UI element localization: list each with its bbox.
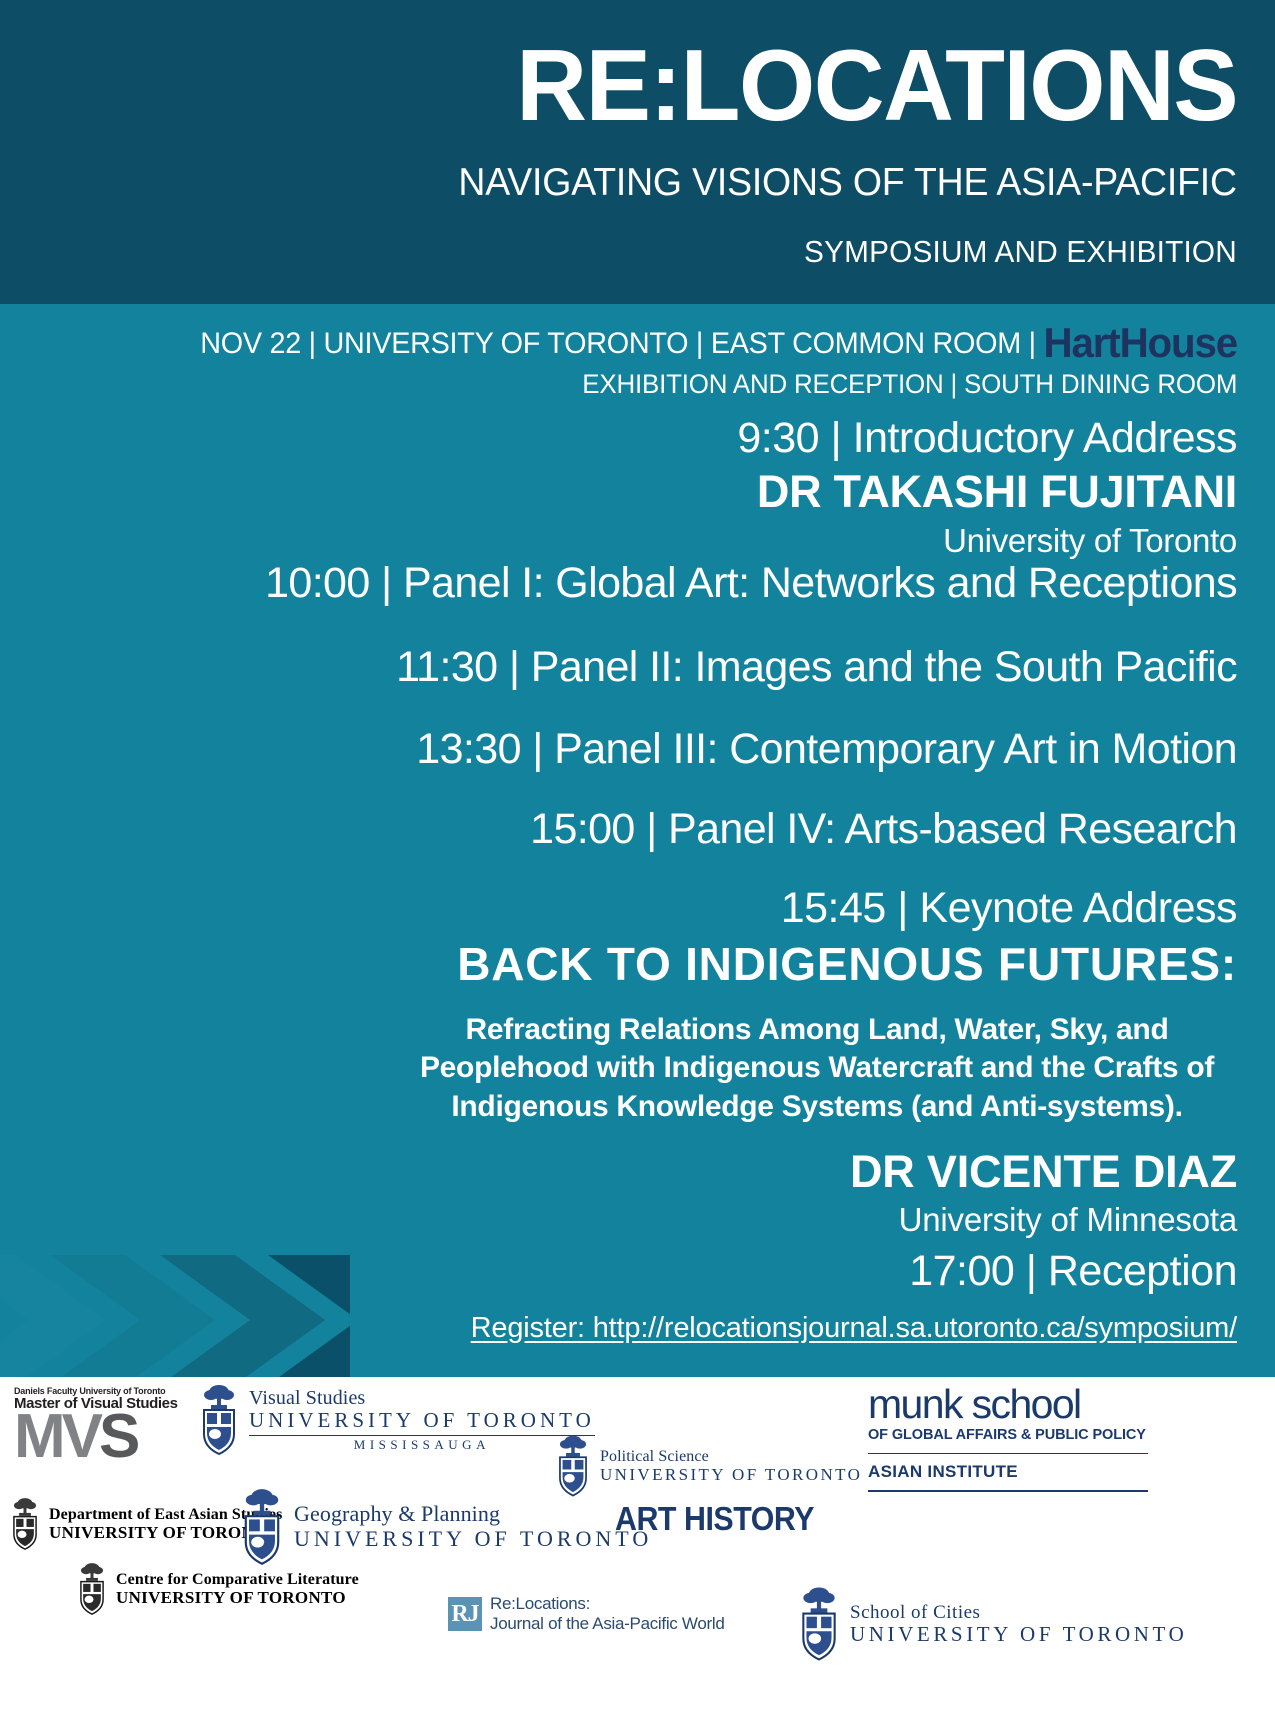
munk-asian-institute: ASIAN INSTITUTE <box>868 1462 1148 1482</box>
logo-geography-planning: Geography & Planning UNIVERSITY OF TORON… <box>237 1487 652 1567</box>
intro-address-time: 9:30 | Introductory Address <box>737 417 1237 460</box>
logo-visual-studies-utm: Visual Studies UNIVERSITY OF TORONTO MIS… <box>196 1383 595 1457</box>
keynote-description: Refracting Relations Among Land, Water, … <box>397 1011 1237 1126</box>
vsutm-university: UNIVERSITY OF TORONTO <box>249 1409 595 1433</box>
polsci-university: UNIVERSITY OF TORONTO <box>600 1465 862 1484</box>
logo-master-of-visual-studies: Daniels Faculty University of Toronto Ma… <box>14 1387 174 1464</box>
logo-comparative-literature: Centre for Comparative Literature UNIVER… <box>75 1560 359 1618</box>
logo-munk-school: munk school OF GLOBAL AFFAIRS & PUBLIC P… <box>868 1385 1148 1492</box>
panel-item-4: 15:00 | Panel IV: Arts-based Research <box>530 808 1237 851</box>
geog-university: UNIVERSITY OF TORONTO <box>294 1527 652 1552</box>
mvs-letter-s: S <box>99 1402 136 1471</box>
keynote-title: BACK TO INDIGENOUS FUTURES: <box>457 941 1237 987</box>
polsci-unit: Political Science <box>600 1448 862 1466</box>
uoft-crest-icon <box>237 1487 287 1567</box>
keynote-time: 15:45 | Keynote Address <box>781 887 1237 930</box>
logo-art-history: ART HISTORY <box>615 1500 831 1538</box>
vsutm-campus: MISSISSAUGA <box>249 1438 595 1453</box>
header-band: RE:LOCATIONS NAVIGATING VISIONS OF THE A… <box>0 0 1275 304</box>
logo-political-science: Political Science UNIVERSITY OF TORONTO <box>553 1433 862 1499</box>
rj-line2: Journal of the Asia-Pacific World <box>490 1614 725 1634</box>
register-link[interactable]: Register: http://relocationsjournal.sa.u… <box>471 1314 1237 1343</box>
exhibition-line: EXHIBITION AND RECEPTION | SOUTH DINING … <box>582 371 1237 398</box>
venue-text: NOV 22 | UNIVERSITY OF TORONTO | EAST CO… <box>200 327 1043 360</box>
logo-relocations-journal: RJ Re:Locations: Journal of the Asia-Pac… <box>448 1594 725 1634</box>
soc-unit: School of Cities <box>850 1602 1187 1623</box>
panel-item-3: 13:30 | Panel III: Contemporary Art in M… <box>416 728 1237 771</box>
uoft-crest-icon <box>795 1585 843 1663</box>
geog-unit: Geography & Planning <box>294 1502 652 1527</box>
page-tagline: SYMPOSIUM AND EXHIBITION <box>804 236 1237 267</box>
uoft-crest-icon <box>553 1433 593 1499</box>
page-subtitle: NAVIGATING VISIONS OF THE ASIA-PACIFIC <box>459 163 1237 202</box>
vsutm-unit: Visual Studies <box>249 1387 595 1409</box>
art-history-name: ART HISTORY <box>615 1500 814 1538</box>
munk-subtitle: OF GLOBAL AFFAIRS & PUBLIC POLICY <box>868 1427 1148 1443</box>
intro-speaker-name: DR TAKASHI FUJITANI <box>757 469 1237 514</box>
intro-speaker-affiliation: University of Toronto <box>943 524 1237 557</box>
ccl-university: UNIVERSITY OF TORONTO <box>116 1588 359 1607</box>
rj-text: Re:Locations: Journal of the Asia-Pacifi… <box>490 1594 725 1634</box>
uoft-crest-icon <box>8 1495 42 1553</box>
uoft-crest-icon <box>75 1560 109 1618</box>
mvs-letter-v: V <box>62 1402 99 1471</box>
harthouse-logo: HartHouse <box>1043 319 1237 366</box>
divider <box>868 1453 1148 1454</box>
keynote-speaker-affiliation: University of Minnesota <box>899 1203 1237 1236</box>
panel-item-2: 11:30 | Panel II: Images and the South P… <box>396 646 1237 689</box>
mvs-acronym: MVS <box>14 1411 174 1464</box>
divider <box>868 1490 1148 1491</box>
sponsor-logo-strip: Daniels Faculty University of Toronto Ma… <box>0 1377 1275 1725</box>
uoft-crest-icon <box>196 1383 242 1457</box>
venue-line: NOV 22 | UNIVERSITY OF TORONTO | EAST CO… <box>200 322 1237 364</box>
reception-time: 17:00 | Reception <box>909 1250 1237 1293</box>
soc-university: UNIVERSITY OF TORONTO <box>850 1623 1187 1647</box>
poster-body: NOV 22 | UNIVERSITY OF TORONTO | EAST CO… <box>0 304 1275 1377</box>
logo-school-of-cities: School of Cities UNIVERSITY OF TORONTO <box>795 1585 1187 1663</box>
rj-monogram: RJ <box>448 1597 482 1631</box>
keynote-speaker-name: DR VICENTE DIAZ <box>850 1149 1237 1194</box>
munk-name: munk school <box>868 1385 1148 1424</box>
poster-root: RE:LOCATIONS NAVIGATING VISIONS OF THE A… <box>0 0 1275 1725</box>
page-title: RE:LOCATIONS <box>516 36 1237 137</box>
mvs-letter-m: M <box>14 1402 62 1471</box>
rj-line1: Re:Locations: <box>490 1594 725 1614</box>
divider <box>249 1435 595 1437</box>
panel-item-1: 10:00 | Panel I: Global Art: Networks an… <box>265 562 1237 605</box>
ccl-unit: Centre for Comparative Literature <box>116 1571 359 1589</box>
